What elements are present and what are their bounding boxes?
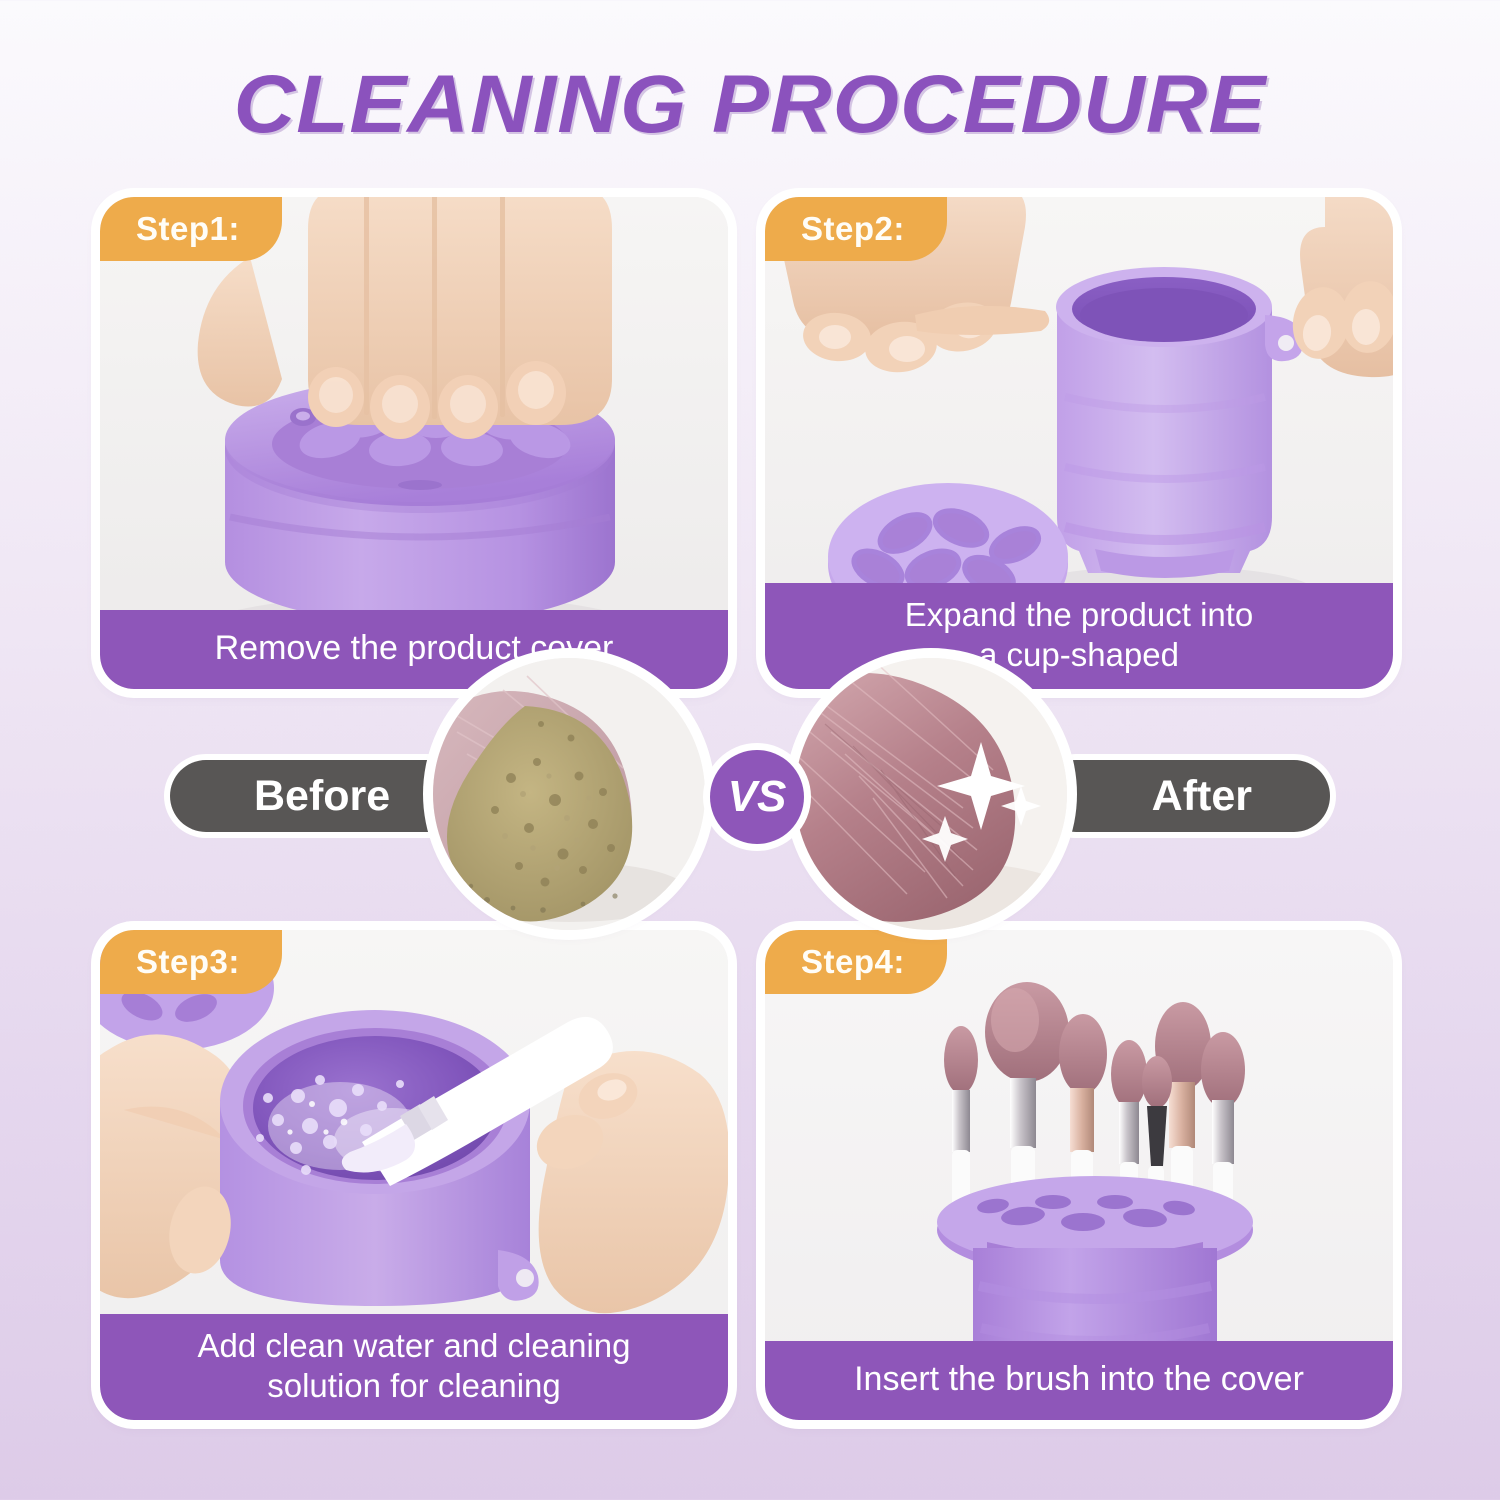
page-title: CLEANING PROCEDURE — [0, 58, 1500, 152]
dirty-brush-illustration — [433, 658, 705, 930]
step1-badge: Step1: — [100, 197, 282, 261]
vs-badge: VS — [710, 750, 804, 844]
infographic-page: CLEANING PROCEDURE — [0, 0, 1500, 1500]
before-image — [433, 658, 705, 930]
step3-caption-line-1: Add clean water and cleaning — [122, 1326, 706, 1366]
clean-brush-illustration — [795, 658, 1067, 930]
step4-caption: Insert the brush into the cover — [765, 1341, 1393, 1420]
step3-caption-line-2: solution for cleaning — [122, 1366, 706, 1406]
after-image — [795, 658, 1067, 930]
before-label-text: Before — [254, 772, 390, 821]
step-card-4: Step4: Insert the brush into the cover — [765, 930, 1393, 1420]
step2-caption-line-1: Expand the product into — [787, 595, 1371, 635]
step2-badge: Step2: — [765, 197, 947, 261]
step3-badge: Step3: — [100, 930, 282, 994]
after-label-pill: After — [1040, 760, 1330, 832]
after-label-text: After — [1152, 772, 1252, 821]
step-card-3: Step3: Add clean water and cleaning solu… — [100, 930, 728, 1420]
step-card-1: Step1: Remove the product cover — [100, 197, 728, 689]
step-card-2: Step2: Expand the product into a cup-sha… — [765, 197, 1393, 689]
step4-badge: Step4: — [765, 930, 947, 994]
step2-caption: Expand the product into a cup-shaped — [765, 583, 1393, 690]
step3-caption: Add clean water and cleaning solution fo… — [100, 1314, 728, 1421]
